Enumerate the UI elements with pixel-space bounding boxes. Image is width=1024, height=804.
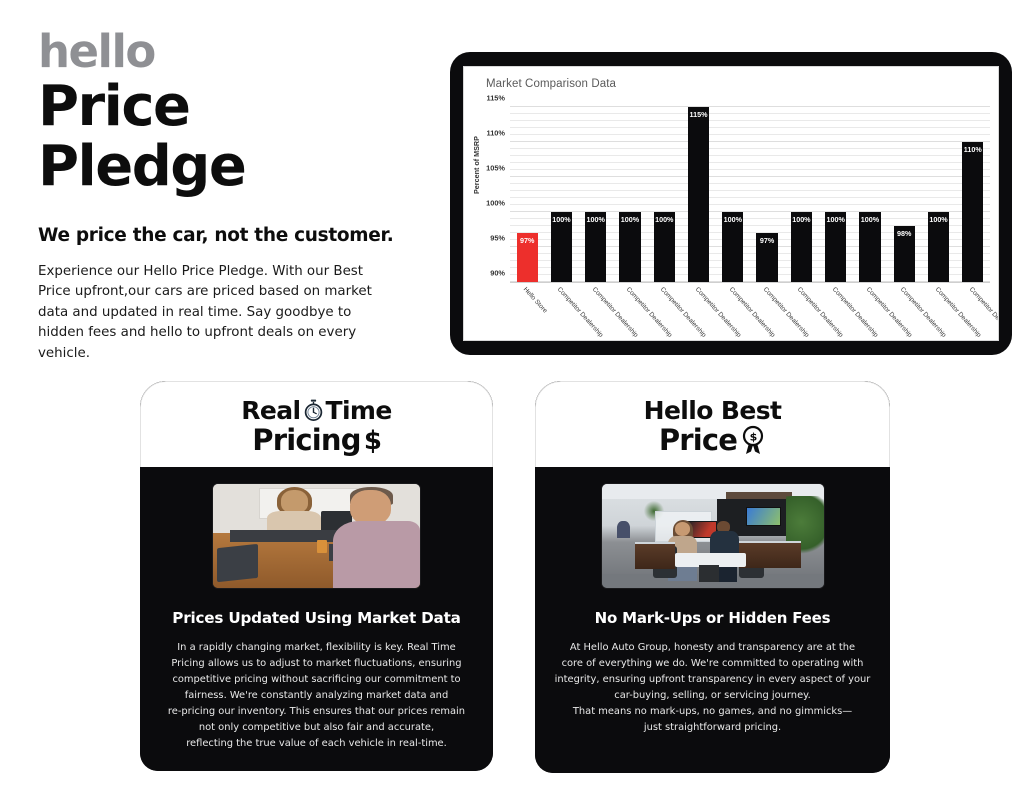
- chart-bar-value-label: 97%: [760, 236, 774, 245]
- feature-card-hello-best-price: Hello Best Price $: [535, 381, 890, 773]
- chart-bar[interactable]: 97%: [517, 233, 538, 282]
- chart-x-label-cell: Hello Store: [510, 284, 544, 341]
- chart-x-label-cell: Competitor Dealership: [921, 284, 955, 341]
- card-header-line1: Real Time: [241, 398, 391, 424]
- card-header-word-real: Real: [241, 398, 300, 424]
- chart-bar[interactable]: 100%: [722, 212, 743, 282]
- hero-body-text: Experience our Hello Price Pledge. With …: [38, 262, 393, 364]
- chart-y-tick: 95%: [490, 234, 505, 243]
- chart-x-axis-line: [510, 282, 990, 283]
- chart-bar[interactable]: 100%: [791, 212, 812, 282]
- svg-text:$: $: [750, 431, 757, 444]
- chart-bar[interactable]: 100%: [585, 212, 606, 282]
- card-heading: No Mark-Ups or Hidden Fees: [595, 609, 831, 627]
- chart-bar-group: 100%: [613, 107, 647, 282]
- card-header-line1: Hello Best: [644, 398, 782, 424]
- chart-bar-group: 100%: [819, 107, 853, 282]
- svg-text:$: $: [364, 426, 381, 454]
- card-header-word-time: Time: [326, 398, 392, 424]
- chart-x-label-cell: Competitor Dealership: [750, 284, 784, 341]
- chart-bar-value-label: 100%: [587, 215, 605, 224]
- chart-bar[interactable]: 97%: [756, 233, 777, 282]
- chart-x-label-cell: Competitor Dealership: [956, 284, 990, 341]
- chart-bar[interactable]: 115%: [688, 107, 709, 282]
- chart-bar-group: 97%: [750, 107, 784, 282]
- chart-x-label-cell: Competitor Dealership: [544, 284, 578, 341]
- market-comparison-chart: Percent of MSRP 90%95%100%105%110%115% 9…: [464, 99, 998, 341]
- chart-x-label-cell: Competitor Dealership: [681, 284, 715, 341]
- chart-bar-value-label: 100%: [621, 215, 639, 224]
- card-header-text: Hello Best: [644, 398, 782, 424]
- card-body: Prices Updated Using Market Data In a ra…: [140, 467, 493, 771]
- chart-x-label-cell: Competitor Dealership: [579, 284, 613, 341]
- card-header: Real Time Pricing $: [140, 381, 493, 467]
- chart-x-label-cell: Competitor Dealership: [819, 284, 853, 341]
- chart-bar-value-label: 110%: [964, 145, 982, 154]
- feature-card-real-time-pricing: Real Time Pricing $: [140, 381, 493, 771]
- chart-plot-area: 90%95%100%105%110%115% 97%100%100%100%10…: [510, 107, 990, 282]
- card-header-line2: Price $: [659, 425, 766, 455]
- chart-x-label-cell: Competitor Dealership: [784, 284, 818, 341]
- card-paragraph: In a rapidly changing market, flexibilit…: [167, 640, 467, 752]
- chart-bar-group: 100%: [647, 107, 681, 282]
- chart-bar-value-label: 100%: [552, 215, 570, 224]
- dollar-sign-icon: $: [364, 426, 381, 454]
- tablet-device-frame: Market Comparison Data Percent of MSRP 9…: [450, 52, 1012, 355]
- chart-bar[interactable]: 100%: [928, 212, 949, 282]
- chart-bar-value-label: 98%: [897, 229, 911, 238]
- chart-x-label-cell: Competitor Dealership: [613, 284, 647, 341]
- chart-bar-value-label: 100%: [724, 215, 742, 224]
- chart-bar-group: 100%: [716, 107, 750, 282]
- chart-bars: 97%100%100%100%100%115%100%97%100%100%10…: [510, 107, 990, 282]
- price-pledge-page: hello Price Pledge We price the car, not…: [0, 0, 1024, 804]
- card-paragraph: At Hello Auto Group, honesty and transpa…: [554, 640, 872, 736]
- chart-x-label-cell: Competitor Dealership: [887, 284, 921, 341]
- card-heading: Prices Updated Using Market Data: [172, 609, 460, 627]
- chart-bar-value-label: 100%: [929, 215, 947, 224]
- chart-x-label-cell: Competitor Dealership: [647, 284, 681, 341]
- chart-y-tick: 90%: [490, 269, 505, 278]
- card-header: Hello Best Price $: [535, 381, 890, 467]
- award-ribbon-dollar-icon: $: [740, 425, 766, 455]
- chart-bar-group: 100%: [544, 107, 578, 282]
- card-header-word-pricing: Pricing: [252, 425, 360, 455]
- chart-title: Market Comparison Data: [486, 78, 616, 90]
- chart-x-label-cell: Competitor Dealership: [853, 284, 887, 341]
- chart-bar[interactable]: 100%: [619, 212, 640, 282]
- chart-bar-value-label: 97%: [520, 236, 534, 245]
- hero-section: hello Price Pledge We price the car, not…: [38, 28, 438, 364]
- chart-bar-value-label: 100%: [861, 215, 879, 224]
- card-photo-two-people-at-table: [213, 484, 420, 588]
- card-header-word-price: Price: [659, 425, 737, 455]
- chart-y-tick: 100%: [486, 199, 505, 208]
- page-title-line1: Price: [38, 77, 438, 137]
- chart-bar-value-label: 100%: [826, 215, 844, 224]
- chart-bar-group: 115%: [681, 107, 715, 282]
- chart-bar[interactable]: 98%: [894, 226, 915, 282]
- chart-x-tick-label: Competitor Dealership: [968, 286, 999, 339]
- card-photo-dealership-showroom: [602, 484, 824, 588]
- chart-y-tick: 115%: [487, 94, 506, 103]
- card-body: No Mark-Ups or Hidden Fees At Hello Auto…: [535, 467, 890, 773]
- hero-subtitle: We price the car, not the customer.: [38, 225, 438, 246]
- chart-bar[interactable]: 100%: [825, 212, 846, 282]
- chart-bar-group: 110%: [956, 107, 990, 282]
- chart-x-label-cell: Competitor Dealership: [716, 284, 750, 341]
- chart-bar-group: 100%: [579, 107, 613, 282]
- chart-bar-group: 100%: [921, 107, 955, 282]
- chart-bar[interactable]: 100%: [551, 212, 572, 282]
- chart-bar[interactable]: 100%: [654, 212, 675, 282]
- chart-y-axis-label: Percent of MSRP: [472, 136, 481, 194]
- card-header-line2: Pricing $: [252, 425, 380, 455]
- chart-bar-group: 100%: [853, 107, 887, 282]
- page-title-line2: Pledge: [38, 137, 438, 197]
- chart-bar-value-label: 100%: [655, 215, 673, 224]
- chart-bar[interactable]: 110%: [962, 142, 983, 282]
- chart-bar-value-label: 115%: [690, 110, 708, 119]
- chart-bar-group: 98%: [887, 107, 921, 282]
- chart-bar-group: 97%: [510, 107, 544, 282]
- chart-bar-value-label: 100%: [792, 215, 810, 224]
- chart-bar[interactable]: 100%: [859, 212, 880, 282]
- chart-y-tick: 110%: [487, 129, 506, 138]
- hello-logo: hello: [38, 28, 438, 75]
- chart-bar-group: 100%: [784, 107, 818, 282]
- chart-x-axis-labels: Hello StoreCompetitor DealershipCompetit…: [510, 284, 990, 341]
- chart-y-tick: 105%: [486, 164, 505, 173]
- tablet-screen: Market Comparison Data Percent of MSRP 9…: [463, 66, 999, 341]
- stopwatch-icon: [303, 399, 324, 422]
